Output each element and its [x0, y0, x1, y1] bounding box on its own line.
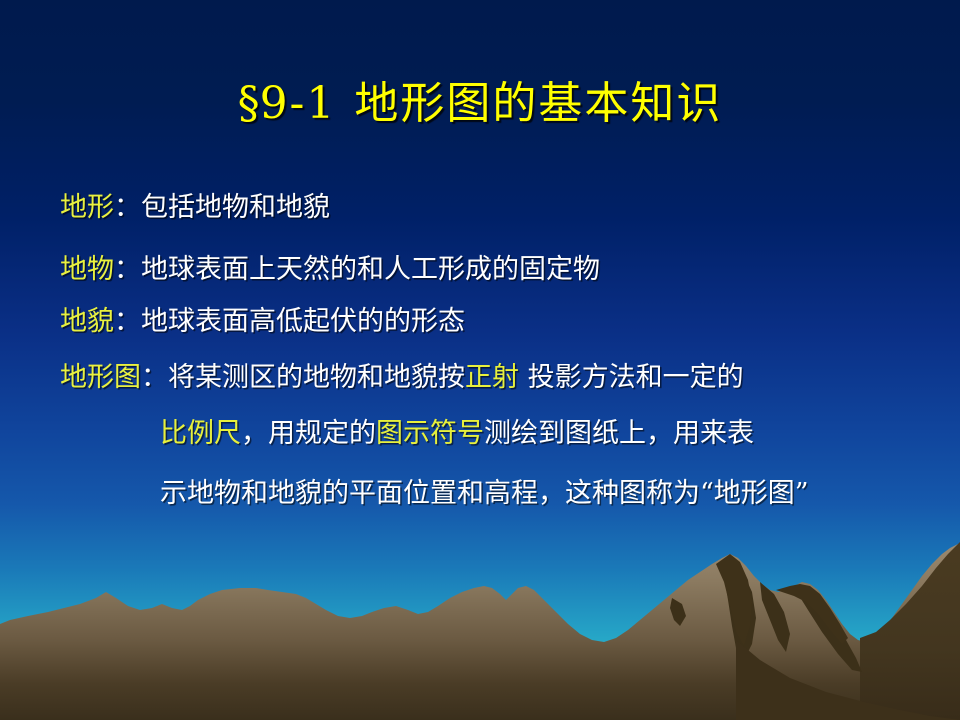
definition-relief: 地球表面高低起伏的的形态: [141, 306, 465, 337]
definition-line-topomap-cont2: 示地物和地貌的平面位置和高程，这种图称为“地形图”: [160, 478, 809, 510]
highlight-symbols: 图示符号: [376, 418, 484, 449]
colon-1: ：: [114, 192, 141, 223]
topomap-cont2-text: 示地物和地貌的平面位置和高程，这种图称为“地形图”: [160, 478, 809, 509]
topomap-text-b: 投影方法和一定的: [519, 362, 744, 393]
title-text: 地形图的基本知识: [354, 78, 722, 129]
definition-line-topomap: 地形图：将某测区的地物和地貌按正射 投影方法和一定的: [60, 362, 744, 394]
term-terrain: 地形: [60, 192, 114, 223]
slide-canvas: §9-1地形图的基本知识 地形：包括地物和地貌 地物：地球表面上天然的和人工形成…: [0, 0, 960, 720]
topomap-text-a: 将某测区的地物和地貌按: [168, 362, 465, 393]
colon-4: ：: [141, 362, 168, 393]
definition-line-features: 地物：地球表面上天然的和人工形成的固定物: [60, 254, 600, 286]
page-title: §9-1地形图的基本知识: [0, 78, 960, 130]
topomap-cont-text-b: 测绘到图纸上，用来表: [484, 418, 754, 449]
highlight-scale: 比例尺: [160, 418, 241, 449]
term-topomap: 地形图: [60, 362, 141, 393]
title-number: 9-1: [260, 78, 337, 129]
mountain-foothill-right: [860, 542, 960, 720]
definition-features: 地球表面上天然的和人工形成的固定物: [141, 254, 600, 285]
definition-line-terrain: 地形：包括地物和地貌: [60, 192, 330, 224]
colon-2: ：: [114, 254, 141, 285]
term-features: 地物: [60, 254, 114, 285]
term-relief: 地貌: [60, 306, 114, 337]
definition-terrain: 包括地物和地貌: [141, 192, 330, 223]
colon-3: ：: [114, 306, 141, 337]
mountain-ridge-main: [0, 542, 960, 720]
mountain-shadow-sweep: [736, 640, 960, 720]
mountain-shadow-centre: [716, 554, 848, 646]
mountain-shadow-details: [670, 548, 960, 710]
definition-line-topomap-cont1: 比例尺，用规定的图示符号测绘到图纸上，用来表: [160, 418, 754, 450]
topomap-cont-text-a: ，用规定的: [241, 418, 376, 449]
definition-line-relief: 地貌：地球表面高低起伏的的形态: [60, 306, 465, 338]
highlight-orthographic: 正射: [465, 362, 519, 393]
mountain-range-illustration: [0, 520, 960, 720]
title-section-mark: §: [238, 78, 260, 129]
